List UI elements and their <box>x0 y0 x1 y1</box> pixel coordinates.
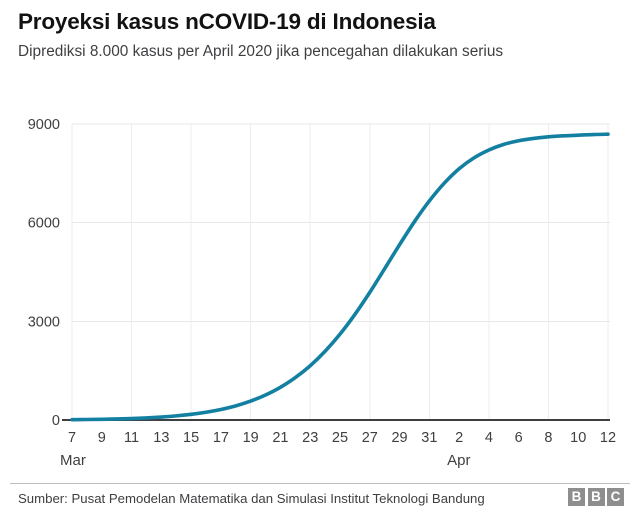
bbc-logo-letter-2: B <box>588 488 605 506</box>
x-tick-label-12: 12 <box>600 430 616 446</box>
chart-subtitle: Diprediksi 8.000 kasus per April 2020 ji… <box>18 41 563 62</box>
series-line-projected-cases <box>72 134 608 419</box>
x-tick-label-7: 7 <box>68 430 76 446</box>
x-tick-label-21: 21 <box>272 430 288 446</box>
x-tick-label-17: 17 <box>213 430 229 446</box>
x-tick-label-2: 2 <box>455 430 463 446</box>
x-tick-label-4: 4 <box>485 430 493 446</box>
bbc-logo: B B C <box>568 488 624 506</box>
x-tick-label-31: 31 <box>421 430 437 446</box>
bbc-chart: Proyeksi kasus nCOVID-19 di Indonesia Di… <box>0 0 640 516</box>
y-tick-label-9000: 9000 <box>28 117 60 133</box>
chart-footer: Sumber: Pusat Pemodelan Matematika dan S… <box>18 490 630 512</box>
x-tick-label-6: 6 <box>515 430 523 446</box>
x-tick-label-25: 25 <box>332 430 348 446</box>
x-tick-label-23: 23 <box>302 430 318 446</box>
x-tick-label-10: 10 <box>570 430 586 446</box>
line-chart-svg: 0300060009000 79111315171921232527293124… <box>0 110 640 470</box>
x-tick-label-15: 15 <box>183 430 199 446</box>
plot-area: 0300060009000 79111315171921232527293124… <box>0 110 640 470</box>
x-month-label-Apr: Apr <box>447 452 470 469</box>
x-axis-month-labels: MarApr <box>60 452 470 469</box>
footer-divider <box>10 483 630 484</box>
x-tick-label-29: 29 <box>391 430 407 446</box>
y-tick-label-3000: 3000 <box>28 314 60 330</box>
y-tick-label-0: 0 <box>52 413 60 429</box>
x-tick-label-9: 9 <box>98 430 106 446</box>
x-tick-label-13: 13 <box>153 430 169 446</box>
x-tick-label-27: 27 <box>362 430 378 446</box>
horizontal-gridlines <box>72 124 610 321</box>
chart-header: Proyeksi kasus nCOVID-19 di Indonesia Di… <box>18 8 630 62</box>
vertical-gridlines <box>72 124 608 420</box>
bbc-logo-letter-1: B <box>568 488 585 506</box>
x-tick-label-11: 11 <box>124 430 139 446</box>
page-title: Proyeksi kasus nCOVID-19 di Indonesia <box>18 8 630 36</box>
y-tick-label-6000: 6000 <box>28 216 60 232</box>
x-tick-label-19: 19 <box>243 430 259 446</box>
chart-subtitle-line-1: Diprediksi 8.000 kasus per April 2020 ji… <box>18 43 388 60</box>
chart-subtitle-line-2: dilakukan serius <box>393 43 503 60</box>
bbc-logo-letter-3: C <box>607 488 624 506</box>
x-tick-label-8: 8 <box>544 430 552 446</box>
x-axis-tick-labels: 79111315171921232527293124681012 <box>68 430 616 446</box>
y-axis-tick-labels: 0300060009000 <box>28 117 60 429</box>
source-note: Sumber: Pusat Pemodelan Matematika dan S… <box>18 490 485 508</box>
x-month-label-Mar: Mar <box>60 452 86 469</box>
